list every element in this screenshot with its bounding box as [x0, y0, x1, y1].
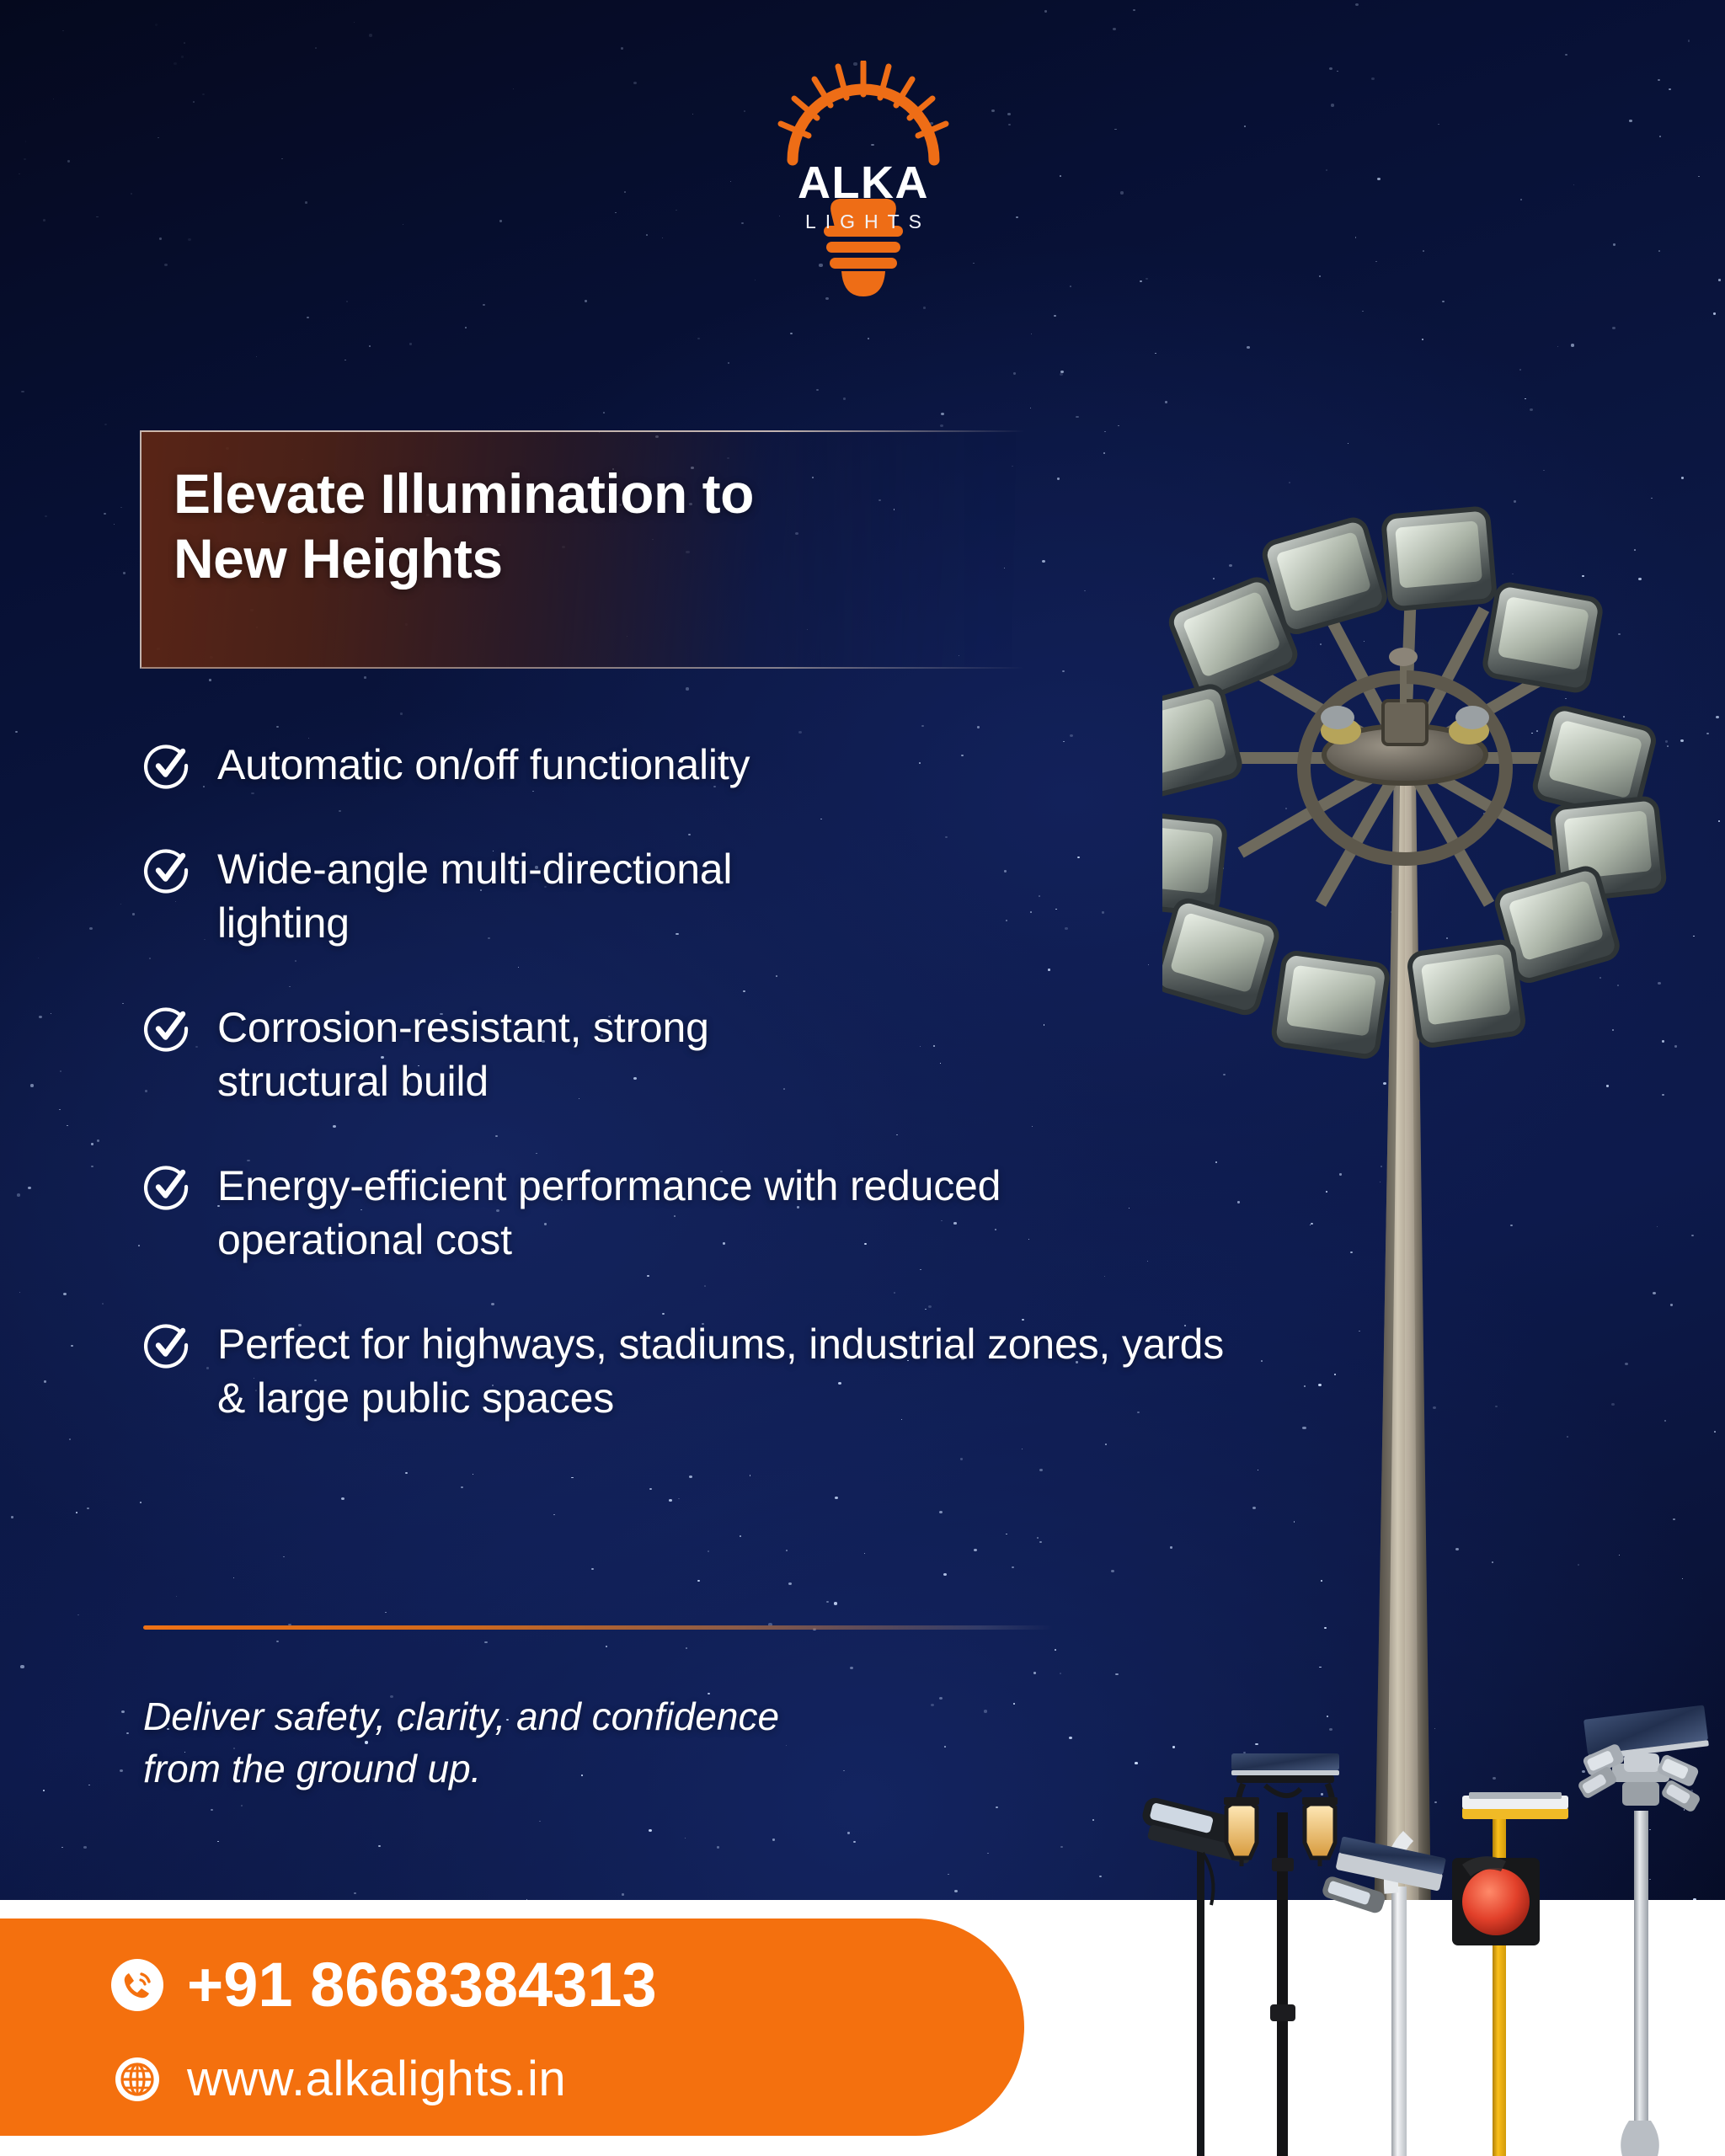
list-item-label: Perfect for highways, stadiums, industri…	[217, 1317, 1247, 1425]
check-circle-icon	[143, 1004, 192, 1053]
check-circle-icon	[143, 741, 192, 790]
list-item-label: Energy-efficient performance with reduce…	[217, 1159, 1085, 1267]
list-item-label: Corrosion-resistant, strong structural b…	[217, 1001, 798, 1108]
poster-canvas: ALKA LIGHTS Elevate Illumination to New …	[0, 0, 1725, 2156]
check-circle-icon	[143, 846, 192, 894]
globe-icon	[115, 2057, 159, 2101]
list-item: Corrosion-resistant, strong structural b…	[143, 1001, 1247, 1108]
list-item: Wide-angle multi-directional lighting	[143, 842, 1247, 950]
list-item-label: Automatic on/off functionality	[217, 738, 750, 792]
logo-primary-text: ALKA	[771, 160, 956, 205]
contact-website[interactable]: www.alkalights.in	[111, 2055, 566, 2104]
logo-secondary-text: LIGHTS	[771, 212, 956, 232]
headline-line-2: New Heights	[174, 526, 1016, 591]
phone-call-icon	[111, 1959, 163, 2011]
section-divider	[143, 1625, 1053, 1630]
tagline: Deliver safety, clarity, and confidence …	[143, 1691, 1053, 1795]
list-item: Energy-efficient performance with reduce…	[143, 1159, 1247, 1267]
product-pole-lineup-image	[1095, 1701, 1725, 2156]
brand-logo: ALKA LIGHTS	[771, 61, 956, 313]
check-circle-icon	[143, 1321, 192, 1369]
list-item: Automatic on/off functionality	[143, 738, 1247, 792]
headline-line-1: Elevate Illumination to	[174, 462, 1016, 526]
page-title: Elevate Illumination to New Heights	[174, 462, 1016, 590]
contact-phone[interactable]: +91 8668384313	[111, 1954, 657, 2016]
website-url[interactable]: www.alkalights.in	[187, 2055, 566, 2104]
feature-list: Automatic on/off functionality Wide-angl…	[143, 738, 1247, 1425]
list-item: Perfect for highways, stadiums, industri…	[143, 1317, 1247, 1425]
white-solar-street-light-pole	[1321, 1836, 1446, 2156]
check-circle-icon	[143, 1162, 192, 1211]
silver-multi-head-solar-pole	[1577, 1705, 1709, 2156]
list-item-label: Wide-angle multi-directional lighting	[217, 842, 841, 950]
decorative-twin-lantern-solar-pole	[1224, 1753, 1339, 2156]
tagline-line-2: from the ground up.	[143, 1743, 1053, 1796]
tagline-line-1: Deliver safety, clarity, and confidence	[143, 1691, 1053, 1743]
phone-number[interactable]: +91 8668384313	[187, 1954, 657, 2016]
yellow-solar-traffic-signal-pole	[1452, 1792, 1568, 2156]
